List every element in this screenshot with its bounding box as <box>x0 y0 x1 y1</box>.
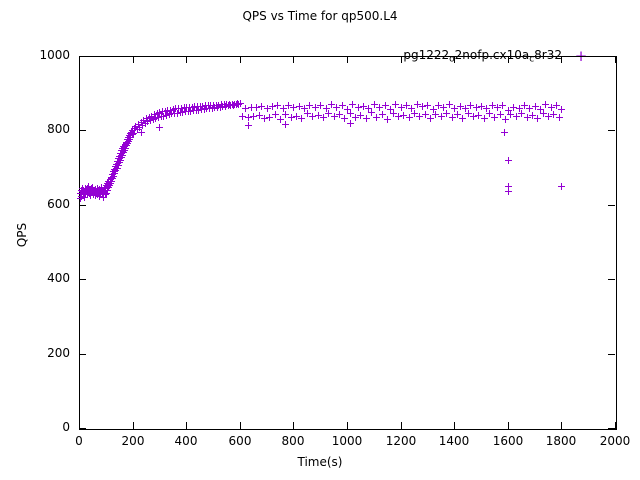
x-axis-tick <box>508 422 509 429</box>
data-point <box>501 129 508 136</box>
data-point <box>505 157 512 164</box>
x-axis-tick-top <box>293 56 294 63</box>
x-axis-tick-label: 1800 <box>531 434 591 448</box>
data-point <box>505 188 512 195</box>
data-point <box>138 129 145 136</box>
data-point <box>282 121 289 128</box>
x-axis-tick <box>615 422 616 429</box>
data-point <box>558 106 565 113</box>
x-axis-tick-top <box>347 56 348 63</box>
x-axis-tick-top <box>186 56 187 63</box>
data-point <box>245 122 252 129</box>
y-axis-tick <box>79 428 86 429</box>
x-axis-tick-top <box>133 56 134 63</box>
x-axis-tick-top <box>454 56 455 63</box>
data-point <box>556 114 563 121</box>
y-axis-tick-right <box>608 428 615 429</box>
y-axis-tick <box>79 205 86 206</box>
y-axis-tick-label: 0 <box>10 420 70 434</box>
y-axis-tick <box>79 354 86 355</box>
x-axis-tick-top <box>615 56 616 63</box>
x-axis-tick-label: 600 <box>210 434 270 448</box>
x-axis-tick-label: 1600 <box>478 434 538 448</box>
y-axis-tick <box>79 279 86 280</box>
y-axis-tick <box>79 56 86 57</box>
y-axis-tick-label: 200 <box>10 346 70 360</box>
data-point <box>347 120 354 127</box>
x-axis-tick-label: 400 <box>156 434 216 448</box>
y-axis-tick <box>79 130 86 131</box>
y-axis-tick-right <box>608 279 615 280</box>
x-axis-tick-label: 1400 <box>424 434 484 448</box>
page-title: QPS vs Time for qp500.L4 <box>0 9 640 23</box>
x-axis-tick <box>186 422 187 429</box>
x-axis-tick <box>293 422 294 429</box>
x-axis-tick <box>561 422 562 429</box>
x-axis-tick <box>133 422 134 429</box>
x-axis-title: Time(s) <box>0 455 640 469</box>
x-axis-tick-top <box>508 56 509 63</box>
y-axis-title: QPS <box>15 205 29 265</box>
x-axis-tick-label: 2000 <box>585 434 640 448</box>
x-axis-tick-top <box>401 56 402 63</box>
x-axis-tick-label: 800 <box>263 434 323 448</box>
y-axis-tick-label: 1000 <box>10 48 70 62</box>
x-axis-tick <box>240 422 241 429</box>
y-axis-tick-label: 800 <box>10 122 70 136</box>
data-point <box>156 124 163 131</box>
x-axis-tick-label: 1000 <box>317 434 377 448</box>
y-axis-tick-right <box>608 130 615 131</box>
data-point <box>558 183 565 190</box>
data-point <box>384 116 391 123</box>
y-axis-tick-right <box>608 205 615 206</box>
y-axis-tick-label: 400 <box>10 271 70 285</box>
x-axis-tick-top <box>240 56 241 63</box>
x-axis-tick <box>454 422 455 429</box>
x-axis-tick-label: 0 <box>49 434 109 448</box>
plot-area <box>80 57 616 429</box>
x-axis-tick <box>79 422 80 429</box>
x-axis-tick <box>401 422 402 429</box>
gnuplot-chart: QPS vs Time for qp500.L4 pg1222o2nofp.cx… <box>0 0 640 480</box>
x-axis-tick <box>347 422 348 429</box>
y-axis-tick-right <box>608 56 615 57</box>
y-axis-tick-right <box>608 354 615 355</box>
x-axis-tick-top <box>79 56 80 63</box>
x-axis-tick-label: 200 <box>103 434 163 448</box>
x-axis-tick-label: 1200 <box>371 434 431 448</box>
x-axis-tick-top <box>561 56 562 63</box>
